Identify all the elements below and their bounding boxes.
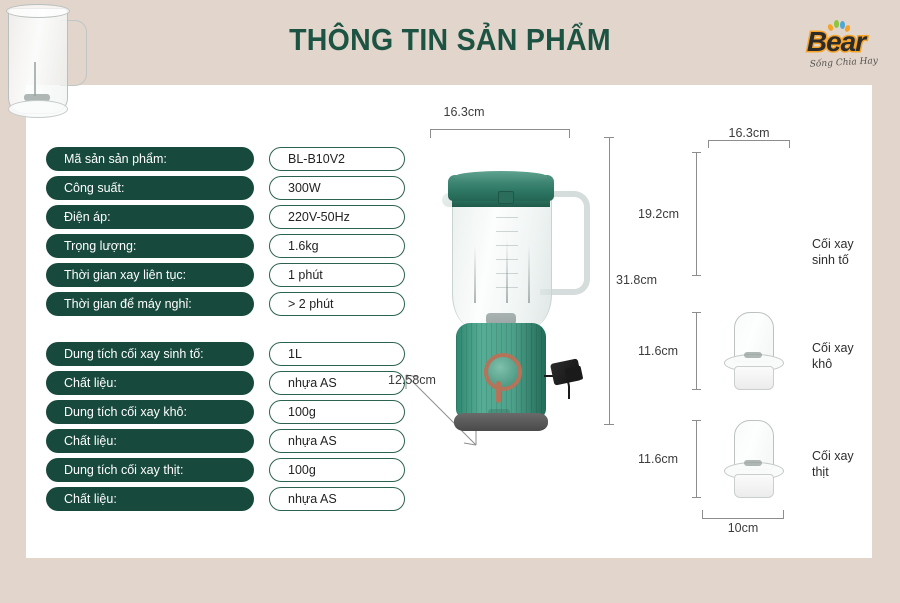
height-bracket xyxy=(604,137,614,425)
jar-lid-top xyxy=(454,171,548,183)
logo-letters-ar: ar xyxy=(841,26,865,57)
bear-logo: Bear Sống Chia Hay xyxy=(788,18,884,76)
spec-value: 300W xyxy=(269,176,405,200)
blender-illustration xyxy=(434,147,584,447)
logo-letter-b: B xyxy=(807,26,826,57)
dimension-depth-label: 12.58cm xyxy=(388,373,436,387)
spec-value: nhựa AS xyxy=(269,429,405,453)
spec-label: Trọng lượng: xyxy=(46,234,254,258)
page-title: THÔNG TIN SẢN PHẨM xyxy=(36,22,864,58)
spec-value: 1 phút xyxy=(269,263,405,287)
logo-tagline: Sống Chia Hay xyxy=(806,56,883,76)
spec-label: Dung tích cối xay sinh tố: xyxy=(46,342,254,366)
spec-label: Thời gian để máy nghỉ: xyxy=(46,292,254,316)
control-knob-stem xyxy=(496,381,501,403)
blade-left xyxy=(474,245,476,303)
width-bracket xyxy=(430,129,570,139)
spec-value: nhựa AS xyxy=(269,371,405,395)
spec-label: Thời gian xay liên tục: xyxy=(46,263,254,287)
spec-label: Chất liệu: xyxy=(46,429,254,453)
spec-value: 1.6kg xyxy=(269,234,405,258)
bear-logo-wordmark: Bear xyxy=(788,26,884,58)
logo-letter-e: e xyxy=(826,26,841,57)
spec-value: nhựa AS xyxy=(269,487,405,511)
base-foot xyxy=(454,413,548,431)
page-header: THÔNG TIN SẢN PHẨM Bear Sống Chia Hay xyxy=(0,0,900,85)
spec-label: Dung tích cối xay thịt: xyxy=(46,458,254,482)
spec-value: > 2 phút xyxy=(269,292,405,316)
spec-label: Công suất: xyxy=(46,176,254,200)
spec-label: Mã sản sản phẩm: xyxy=(46,147,254,171)
dimension-height-label: 31.8cm xyxy=(616,273,657,287)
spec-value: BL-B10V2 xyxy=(269,147,405,171)
power-plug-pin xyxy=(565,365,584,382)
spec-label: Chất liệu: xyxy=(46,487,254,511)
spec-label: Dung tích cối xay khô: xyxy=(46,400,254,424)
spec-value: 100g xyxy=(269,400,405,424)
blade-right xyxy=(528,245,530,303)
blade-center xyxy=(506,239,508,303)
spec-value: 100g xyxy=(269,458,405,482)
spec-value: 1L xyxy=(269,342,405,366)
product-main-diagram: 16.3cm 31.8cm 12.58cm xyxy=(388,95,648,475)
spec-label: Chất liệu: xyxy=(46,371,254,395)
jar-lid-latch xyxy=(498,191,514,204)
dimension-width-label: 16.3cm xyxy=(444,105,485,119)
spec-value: 220V-50Hz xyxy=(269,205,405,229)
control-knob xyxy=(484,353,522,391)
spec-label: Điện áp: xyxy=(46,205,254,229)
